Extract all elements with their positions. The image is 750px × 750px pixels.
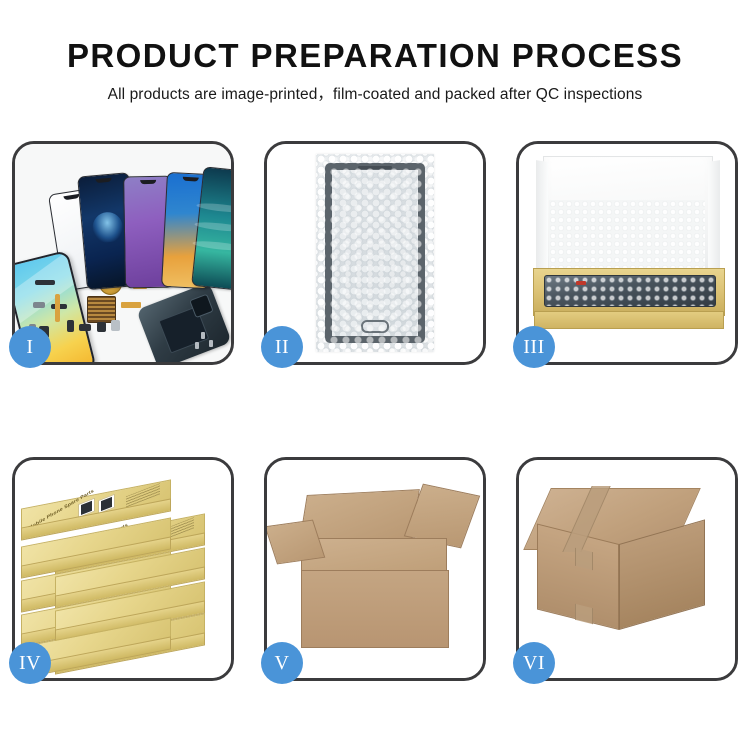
component-part (79, 324, 91, 331)
notch-icon (95, 178, 111, 183)
flex-cable-part (121, 302, 141, 308)
foam-padding-icon (549, 200, 705, 268)
step-badge-4: IV (9, 642, 51, 684)
step-panel-6: VI (516, 457, 738, 681)
packing-tape-icon (575, 604, 593, 624)
flex-cable-part (55, 294, 60, 322)
step-image-6 (519, 460, 735, 678)
step-image-5 (267, 460, 483, 678)
step-panel-4: Mobile Phone Spare Parts Mobile Phone Sp… (12, 457, 234, 681)
step-image-3 (519, 144, 735, 362)
step-image-1 (15, 144, 231, 362)
step-panel-5: V (264, 457, 486, 681)
wrapped-screen-icon (544, 275, 716, 307)
phone-fan-illustration (63, 158, 231, 288)
process-steps-grid: I II III (12, 141, 738, 681)
step-image-2 (267, 144, 483, 362)
step-panel-3: III (516, 141, 738, 365)
chip-grid-icon (87, 296, 116, 323)
home-button-icon (361, 320, 389, 333)
box-tray-front (534, 311, 724, 329)
label-mark (576, 281, 586, 285)
wave-line-icon (194, 221, 231, 233)
kraft-box-tray-icon (533, 268, 725, 316)
component-part (35, 280, 55, 285)
phone-screen-icon (325, 163, 425, 343)
jellyfish-wallpaper-icon (91, 210, 124, 243)
step-badge-6: VI (513, 642, 555, 684)
screw-icon (195, 342, 199, 349)
kraft-box-item (21, 532, 171, 558)
step-image-4: Mobile Phone Spare Parts Mobile Phone Sp… (15, 460, 231, 678)
screw-icon (201, 332, 205, 339)
screw-icon (209, 340, 213, 347)
step-badge-5: V (261, 642, 303, 684)
notch-icon (140, 180, 156, 184)
kraft-box-item (55, 562, 205, 588)
phone-backplate-icon (136, 282, 231, 362)
bubble-wrap-icon (316, 154, 434, 352)
step-badge-2: II (261, 326, 303, 368)
box-stack-illustration: Mobile Phone Spare Parts Mobile Phone Sp… (21, 476, 229, 672)
wave-line-icon (192, 240, 231, 252)
kraft-box-item: Mobile Phone Spare Parts (21, 494, 171, 520)
page-header: PRODUCT PREPARATION PROCESS All products… (0, 0, 750, 106)
component-part (67, 320, 74, 332)
step-panel-1: I (12, 141, 234, 365)
wave-line-icon (196, 202, 231, 214)
component-part (97, 322, 106, 332)
page-subtitle: All products are image-printed，film-coat… (0, 84, 750, 106)
notch-icon (63, 194, 79, 200)
carton-front-face (301, 570, 449, 648)
component-part (33, 302, 45, 308)
notch-icon (183, 177, 199, 182)
page-title: PRODUCT PREPARATION PROCESS (0, 36, 750, 76)
step-panel-2: II (264, 141, 486, 365)
component-part (111, 320, 120, 331)
step-badge-1: I (9, 326, 51, 368)
step-badge-3: III (513, 326, 555, 368)
